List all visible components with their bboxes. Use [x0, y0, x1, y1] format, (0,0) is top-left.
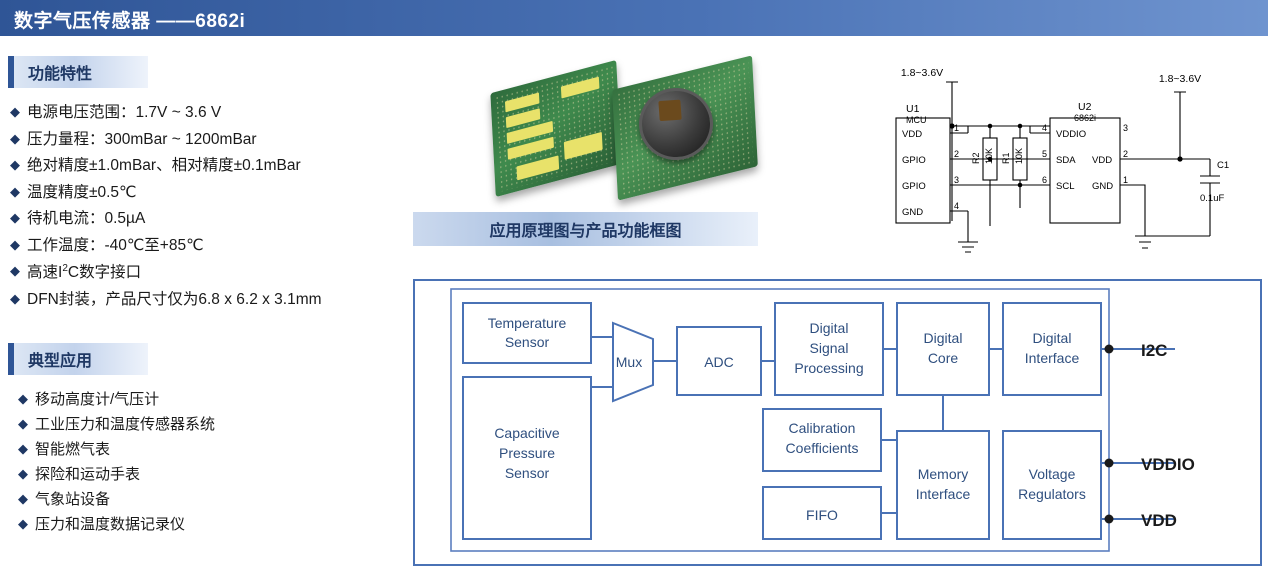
- bullet-icon: ◆: [18, 517, 28, 532]
- block-label-processing: Processing: [794, 360, 863, 376]
- pin-label-vddio: VDDIO: [1141, 455, 1195, 474]
- functional-block-diagram: Temperature Sensor Capacitive Pressure S…: [413, 279, 1262, 566]
- schematic-u2-ref: U2: [1078, 101, 1092, 113]
- block-label-adc: ADC: [704, 354, 734, 370]
- schematic-u1-ref: U1: [906, 103, 920, 115]
- bullet-icon: ◆: [10, 105, 20, 120]
- application-text: 气象站设备: [35, 492, 110, 507]
- schematic-u2-name: 6862i: [1074, 113, 1096, 123]
- feature-text: DFN封装，产品尺寸仅为6.8 x 6.2 x 3.1mm: [27, 292, 322, 308]
- block-label-digital: Digital: [810, 320, 849, 336]
- block-label-fifo: FIFO: [806, 507, 838, 523]
- bullet-icon: ◆: [10, 264, 20, 279]
- schematic-r2-value: 10K: [984, 148, 994, 164]
- application-schematic: 1.8~3.6V 1.8~3.6V U1 MCU VDD GPIO GPIO G…: [880, 46, 1268, 286]
- bullet-icon: ◆: [18, 492, 28, 507]
- bullet-icon: ◆: [10, 132, 20, 147]
- list-item: ◆ 工业压力和温度传感器系统: [18, 417, 215, 432]
- schematic-supply-right-label: 1.8~3.6V: [1159, 73, 1201, 85]
- pcb-left-image: [490, 60, 621, 197]
- applications-list: ◆ 移动高度计/气压计 ◆ 工业压力和温度传感器系统 ◆ 智能燃气表 ◆ 探险和…: [18, 392, 215, 542]
- schematic-c1-ref: C1: [1217, 160, 1229, 171]
- schematic-r1-ref: R1: [1001, 152, 1011, 164]
- block-label-coefficients: Coefficients: [786, 440, 859, 456]
- bullet-icon: ◆: [18, 467, 28, 482]
- list-item: ◆ 待机电流：0.5µA: [10, 211, 322, 227]
- block-label-capacitive: Capacitive: [494, 425, 560, 441]
- block-label-calibration: Calibration: [789, 420, 856, 436]
- block-label-signal: Signal: [810, 340, 849, 356]
- block-label-digital-interface-2: Interface: [1025, 350, 1080, 366]
- schematic-u2-num-4: 4: [1042, 123, 1047, 133]
- schematic-supply-left-label: 1.8~3.6V: [901, 67, 943, 79]
- application-text: 智能燃气表: [35, 442, 110, 457]
- block-label-mux: Mux: [616, 354, 642, 370]
- schematic-u1-num-1: 1: [954, 123, 959, 133]
- block-diagram-svg: Temperature Sensor Capacitive Pressure S…: [415, 281, 1256, 560]
- feature-text: 压力量程：300mBar ~ 1200mBar: [27, 132, 257, 148]
- pin-label-vdd: VDD: [1141, 511, 1177, 530]
- application-text: 探险和运动手表: [35, 467, 140, 482]
- list-item: ◆ 电源电压范围：1.7V ~ 3.6 V: [10, 105, 322, 121]
- block-label-digital-interface-1: Digital: [1033, 330, 1072, 346]
- block-label-memory: Memory: [918, 466, 969, 482]
- list-item: ◆ 智能燃气表: [18, 442, 215, 457]
- sensor-port-hole: [658, 100, 681, 121]
- application-text: 工业压力和温度传感器系统: [35, 417, 215, 432]
- schematic-u1-pin-gpio1: GPIO: [902, 155, 926, 166]
- schematic-u2-num-1: 1: [1123, 175, 1128, 185]
- block-label-temperature-sensor-2: Sensor: [505, 334, 550, 350]
- schematic-u2-num-6: 6: [1042, 175, 1047, 185]
- schematic-u2-pin-gnd: GND: [1092, 181, 1113, 192]
- block-label-regulators: Regulators: [1018, 486, 1086, 502]
- feature-text: 电源电压范围：1.7V ~ 3.6 V: [27, 105, 221, 121]
- list-item: ◆ 温度精度±0.5℃: [10, 185, 322, 201]
- features-header-label: 功能特性: [28, 60, 92, 84]
- schematic-u1-pin-vdd: VDD: [902, 129, 922, 140]
- feature-text: 高速I2C数字接口: [27, 264, 141, 281]
- bullet-icon: ◆: [10, 211, 20, 226]
- schematic-u2-pin-vdd: VDD: [1092, 155, 1112, 166]
- bullet-icon: ◆: [18, 442, 28, 457]
- page-title: 数字气压传感器 ——6862i: [14, 6, 245, 33]
- schematic-u1-num-2: 2: [954, 149, 959, 159]
- application-text: 移动高度计/气压计: [35, 392, 159, 407]
- schematic-u1-num-4: 4: [954, 201, 959, 211]
- diagram-section-header: 应用原理图与产品功能框图: [413, 212, 758, 246]
- application-text: 压力和温度数据记录仪: [35, 517, 185, 532]
- list-item: ◆ 压力量程：300mBar ~ 1200mBar: [10, 132, 322, 148]
- pin-label-i2c: I2C: [1141, 341, 1167, 360]
- applications-header-label: 典型应用: [28, 347, 92, 371]
- schematic-c1-value: 0.1uF: [1200, 193, 1224, 204]
- schematic-svg: 1.8~3.6V 1.8~3.6V U1 MCU VDD GPIO GPIO G…: [880, 46, 1268, 286]
- schematic-u2-pin-vddio: VDDIO: [1056, 129, 1086, 140]
- schematic-u1-name: MCU: [906, 115, 927, 125]
- schematic-r1-value: 10K: [1014, 148, 1024, 164]
- schematic-u1-pin-gpio2: GPIO: [902, 181, 926, 192]
- schematic-u2-num-3: 3: [1123, 123, 1128, 133]
- list-item: ◆ 高速I2C数字接口: [10, 264, 322, 281]
- list-item: ◆ 绝对精度±1.0mBar、相对精度±0.1mBar: [10, 158, 322, 174]
- schematic-u2-pin-sda: SDA: [1056, 155, 1076, 166]
- feature-text: 温度精度±0.5℃: [27, 185, 136, 201]
- applications-section-header: 典型应用: [8, 343, 148, 375]
- schematic-u1-num-3: 3: [954, 175, 959, 185]
- features-section-header: 功能特性: [8, 56, 148, 88]
- diagram-header-label: 应用原理图与产品功能框图: [489, 217, 681, 241]
- list-item: ◆ 探险和运动手表: [18, 467, 215, 482]
- block-label-digital-core-1: Digital: [924, 330, 963, 346]
- list-item: ◆ 压力和温度数据记录仪: [18, 517, 215, 532]
- schematic-u2-num-2: 2: [1123, 149, 1128, 159]
- bullet-icon: ◆: [10, 238, 20, 253]
- feature-text: 绝对精度±1.0mBar、相对精度±0.1mBar: [27, 158, 301, 174]
- schematic-u2-pin-scl: SCL: [1056, 181, 1074, 192]
- list-item: ◆ 工作温度：-40℃至+85℃: [10, 238, 322, 254]
- schematic-r2-ref: R2: [971, 152, 981, 164]
- product-photo: [487, 54, 777, 204]
- list-item: ◆ 移动高度计/气压计: [18, 392, 215, 407]
- block-label-temperature-sensor: Temperature: [488, 315, 567, 331]
- block-label-interface: Interface: [916, 486, 971, 502]
- block-label-digital-core-2: Core: [928, 350, 959, 366]
- block-label-sensor: Sensor: [505, 465, 550, 481]
- feature-text: 工作温度：-40℃至+85℃: [27, 238, 204, 254]
- bullet-icon: ◆: [10, 185, 20, 200]
- bullet-icon: ◆: [10, 292, 20, 307]
- schematic-u2-num-5: 5: [1042, 149, 1047, 159]
- bullet-icon: ◆: [18, 392, 28, 407]
- block-label-pressure: Pressure: [499, 445, 555, 461]
- list-item: ◆ DFN封装，产品尺寸仅为6.8 x 6.2 x 3.1mm: [10, 292, 322, 308]
- title-bar: 数字气压传感器 ——6862i: [0, 0, 1268, 36]
- bullet-icon: ◆: [18, 417, 28, 432]
- bullet-icon: ◆: [10, 158, 20, 173]
- feature-text-post: C数字接口: [68, 264, 141, 281]
- feature-text: 待机电流：0.5µA: [27, 211, 145, 227]
- list-item: ◆ 气象站设备: [18, 492, 215, 507]
- block-label-voltage: Voltage: [1029, 466, 1076, 482]
- feature-text-pre: 高速I: [27, 264, 62, 281]
- features-list: ◆ 电源电压范围：1.7V ~ 3.6 V ◆ 压力量程：300mBar ~ 1…: [10, 105, 322, 318]
- schematic-u1-pin-gnd: GND: [902, 207, 923, 218]
